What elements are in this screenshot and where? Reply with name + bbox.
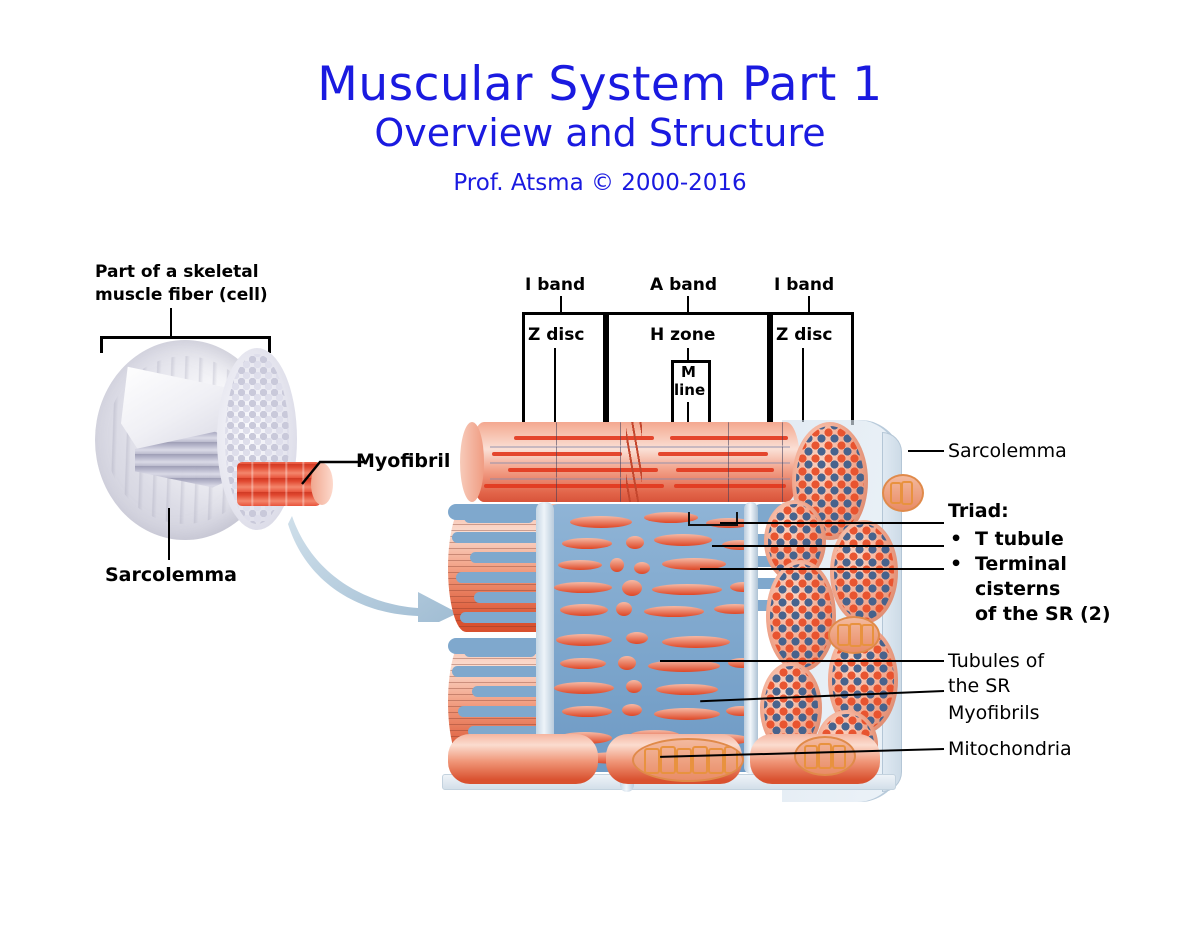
t-tubule-band-right	[744, 502, 758, 774]
sarcolemma-label-left: Sarcolemma	[105, 564, 237, 586]
triad-heading: Triad:	[948, 500, 1009, 522]
m-line-stripe	[626, 422, 642, 502]
z-disc-left-leader	[554, 348, 556, 422]
triad-bullet-2: •	[950, 553, 962, 575]
slide-canvas: Muscular System Part 1 Overview and Stru…	[0, 0, 1200, 927]
mitochondrion	[632, 738, 744, 782]
triad-bullet-1: •	[950, 528, 962, 550]
m-line-label-1: M	[681, 364, 696, 382]
top-cylinder-cap	[460, 422, 484, 502]
mitochondrion	[828, 616, 880, 654]
page-title: Muscular System Part 1	[0, 60, 1200, 110]
z-disc-left-label: Z disc	[528, 325, 584, 345]
m-line-stem	[687, 348, 689, 360]
sarcolemma-label-right: Sarcolemma	[948, 440, 1067, 462]
i-band-left-stem	[560, 296, 562, 312]
sarcolemma-leader-line	[168, 508, 170, 560]
h-zone-label: H zone	[650, 325, 715, 345]
mitochondria-label: Mitochondria	[948, 738, 1072, 760]
heading-stem	[170, 308, 172, 336]
tubules-sr-label-l2: the SR	[948, 675, 1010, 697]
leader-t-tubule	[712, 545, 944, 547]
tubules-sr-label-l1: Tubules of	[948, 650, 1044, 672]
left-panel-heading-line1: Part of a skeletal	[95, 262, 259, 282]
a-band-label: A band	[650, 275, 717, 295]
mitochondrion	[882, 474, 924, 512]
i-band-right-label: I band	[774, 275, 834, 295]
terminal-cisterns-label-l2: cisterns	[975, 578, 1060, 600]
leader-terminal-cisterns	[700, 568, 944, 570]
z-disc-right-label: Z disc	[776, 325, 832, 345]
myofibril-cross-section	[830, 520, 898, 624]
title-block: Muscular System Part 1 Overview and Stru…	[0, 60, 1200, 196]
leader-sarcolemma	[908, 450, 944, 452]
byline: Prof. Atsma © 2000-2016	[0, 170, 1200, 196]
skeletal-muscle-fiber-illustration	[95, 340, 315, 550]
myofibrils-label-right: Myofibrils	[948, 702, 1040, 724]
i-band-right-stem	[808, 296, 810, 312]
myofibril-cross-section	[766, 560, 836, 672]
terminal-cisterns-label-l1: Terminal	[975, 553, 1067, 575]
page-subtitle: Overview and Structure	[0, 112, 1200, 155]
m-line-label-2: line	[674, 382, 705, 400]
t-tubule-label: T tubule	[975, 528, 1064, 550]
a-band-stem	[687, 296, 689, 312]
leader-triad	[720, 522, 944, 524]
leader-tubules-sr	[660, 660, 944, 662]
i-band-left-label: I band	[525, 275, 585, 295]
bottom-myofibril-left	[448, 734, 598, 784]
left-panel-heading-line2: muscle fiber (cell)	[95, 285, 268, 305]
mitochondrion	[794, 736, 856, 776]
terminal-cisterns-label-l3: of the SR (2)	[975, 603, 1111, 625]
z-disc-right-leader	[802, 348, 804, 422]
